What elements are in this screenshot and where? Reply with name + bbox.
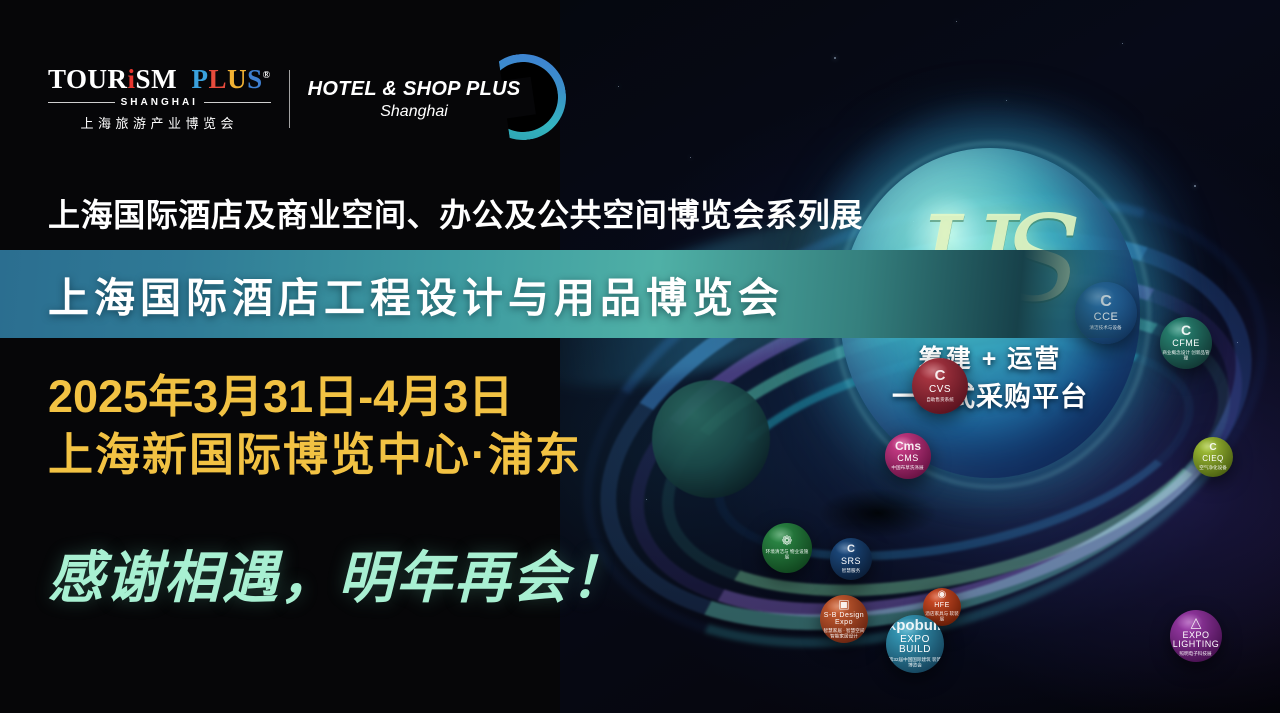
tourism-plus-wordmark: TOURiSM PLUS® [48,66,271,93]
sphere-caption: 筹建 + 运营 一站式采购平台 [868,344,1112,414]
expo-title: 上海国际酒店工程设计与用品博览会 [48,264,784,324]
badge-abbreviation: HFE [934,602,950,609]
badge-abbreviation: EXPO BUILD [886,635,944,655]
badge-mark-icon: C [1181,323,1191,337]
series-headline: 上海国际酒店及商业空间、办公及公共空间博览会系列展 [48,190,863,236]
badge-subtitle: 智慧家居 · 智慧空间 智能家居设计 [822,628,866,640]
badge-mark-icon: expobuild [886,618,944,633]
badge-abbreviation: S-B Design Expo [820,612,868,626]
event-venue: 上海新国际博览中心·浦东 [48,426,582,484]
registered-mark: ® [263,70,271,81]
exhibition-badge-cvs[interactable]: CCVS自助售货系统 [912,358,968,414]
badge-subtitle: 第32届中国国际建筑 装饰博览会 [888,658,941,670]
exhibition-badge-cieq[interactable]: CCIEQ空气净化设备 [1193,437,1233,477]
badge-subtitle: 商业概念设计 创新品管理 [1162,351,1210,363]
badge-mark-icon: C [847,544,855,555]
badge-subtitle: 智慧服务 [842,568,860,574]
tourism-plus-city: SHANGHAI [121,97,198,108]
badge-abbreviation: CMS [897,454,919,463]
event-date: 2025年3月31日-4月3日 [48,368,582,426]
badge-subtitle: 环境清洁与 物业设施展 [764,550,810,562]
badge-abbreviation: EXPO LIGHTING [1170,631,1222,649]
hotel-shop-plus-city: Shanghai [308,103,521,121]
cosmic-artwork: HS 筹建 + 运营 一站式采购平台 CCCE清洁技术与设备CCFME商业概念设… [560,0,1280,713]
badge-subtitle: 空气净化设备 [1199,465,1227,471]
badge-mark-icon: ❁ [782,534,793,547]
rule-right [204,102,271,103]
exhibition-badge-expo-build[interactable]: expobuildEXPO BUILD第32届中国国际建筑 装饰博览会 [886,615,944,673]
exhibition-badge-s-b-design-expo[interactable]: ▣S-B Design Expo智慧家居 · 智慧空间 智能家居设计 [820,595,868,643]
rule-left [48,102,115,103]
sphere-caption-line1: 筹建 + 运营 [868,344,1112,376]
logo-lockup: TOURiSM PLUS® SHANGHAI 上海旅游产业博览会 HOTEL &… [48,66,520,132]
tourism-plus-city-row: SHANGHAI [48,97,271,108]
badge-abbreviation: CFME [1172,339,1200,348]
badge-abbreviation: SRS [841,557,861,566]
hotel-shop-plus-wordmark: HOTEL & SHOP PLUS [308,78,521,101]
badge-subtitle: 中国布草洗涤展 [892,466,924,472]
hotel-shop-plus-logo: HOTEL & SHOP PLUS Shanghai [308,78,521,121]
badge-subtitle: 照明电子科技展 [1180,651,1212,657]
tourism-plus-logo: TOURiSM PLUS® SHANGHAI 上海旅游产业博览会 [48,66,271,132]
badge-abbreviation: CVS [929,385,951,395]
sphere-caption-line2: 一站式采购平台 [868,380,1112,414]
badge-subtitle: 自助售货系统 [926,398,954,404]
exhibition-badge-cfme[interactable]: CCFME商业概念设计 创新品管理 [1160,317,1212,369]
event-info: 2025年3月31日-4月3日 上海新国际博览中心·浦东 [48,368,582,483]
title-banner-text-row: 上海国际酒店工程设计与用品博览会 [0,250,1130,338]
badge-abbreviation: CIEQ [1202,455,1224,463]
banner-canvas: HS 筹建 + 运营 一站式采购平台 CCCE清洁技术与设备CCFME商业概念设… [0,0,1280,713]
badge-mark-icon: Cms [895,440,921,452]
tourism-plus-chinese: 上海旅游产业博览会 [81,113,239,132]
badge-mark-icon: C [1209,443,1216,453]
badge-mark-icon: ▣ [838,598,849,610]
badge-mark-icon: △ [1191,615,1202,629]
dark-planet [652,380,770,498]
exhibition-badge-cms[interactable]: CmsCMS中国布草洗涤展 [885,433,931,479]
badge-mark-icon: ◉ [938,590,947,600]
exhibition-badge-eco[interactable]: ❁环境清洁与 物业设施展 [762,523,812,573]
exhibition-badge-expo-lighting[interactable]: △EXPO LIGHTING照明电子科技展 [1170,610,1222,662]
logo-divider [289,70,290,128]
farewell-message: 感谢相遇，明年再会！ [48,533,628,614]
exhibition-badge-srs[interactable]: CSRS智慧服务 [830,538,872,580]
badge-mark-icon: C [935,368,946,383]
